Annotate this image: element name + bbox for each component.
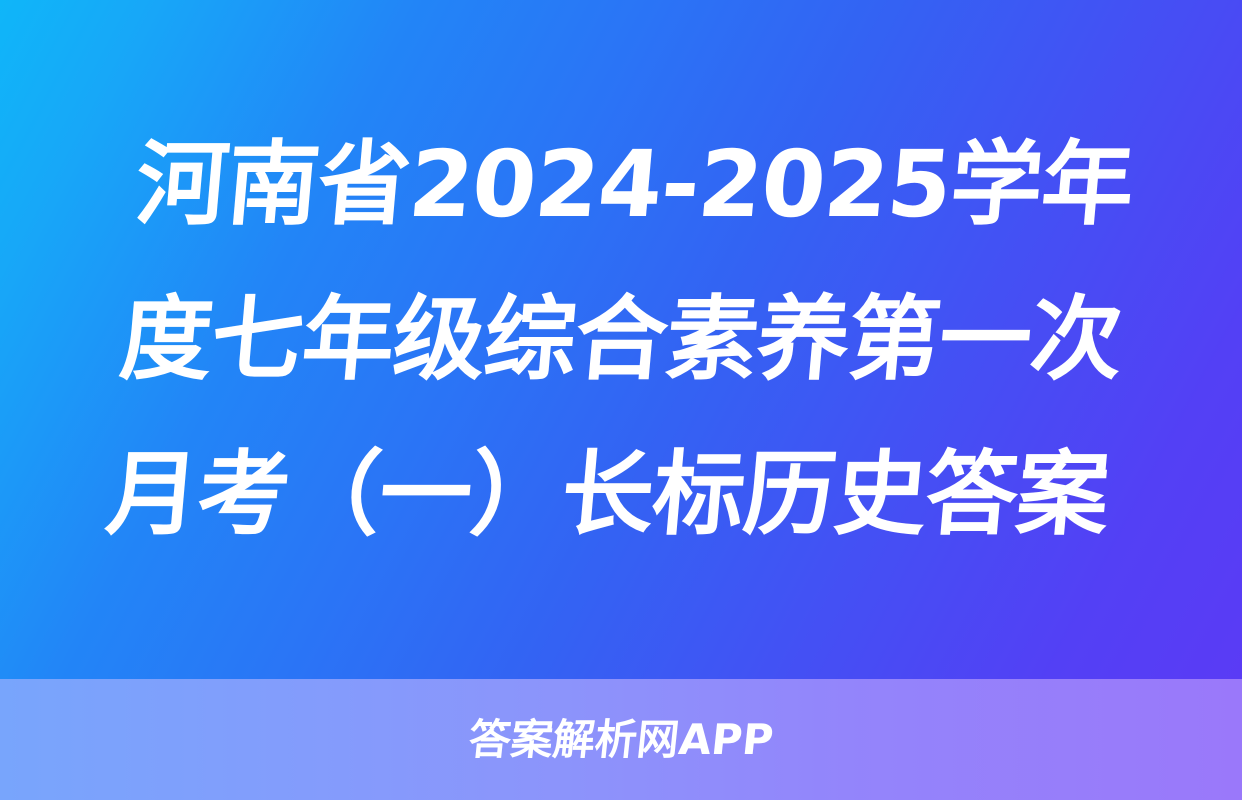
page-title: 河南省2024-2025学年 度七年级综合素养第一次 月考（一）长标历史答案 xyxy=(63,107,1180,572)
title-line-2: 度七年级综合素养第一次 xyxy=(76,262,1166,417)
app-brand-label: 答案解析网APP xyxy=(467,719,775,761)
exam-answer-banner: 河南省2024-2025学年 度七年级综合素养第一次 月考（一）长标历史答案 答… xyxy=(0,0,1242,800)
title-line-3: 月考（一）长标历史答案 xyxy=(63,417,1153,572)
title-line-1: 河南省2024-2025学年 xyxy=(90,107,1180,262)
footer-brand-strip: 答案解析网APP xyxy=(0,679,1242,800)
hero-gradient-panel: 河南省2024-2025学年 度七年级综合素养第一次 月考（一）长标历史答案 xyxy=(0,0,1242,679)
